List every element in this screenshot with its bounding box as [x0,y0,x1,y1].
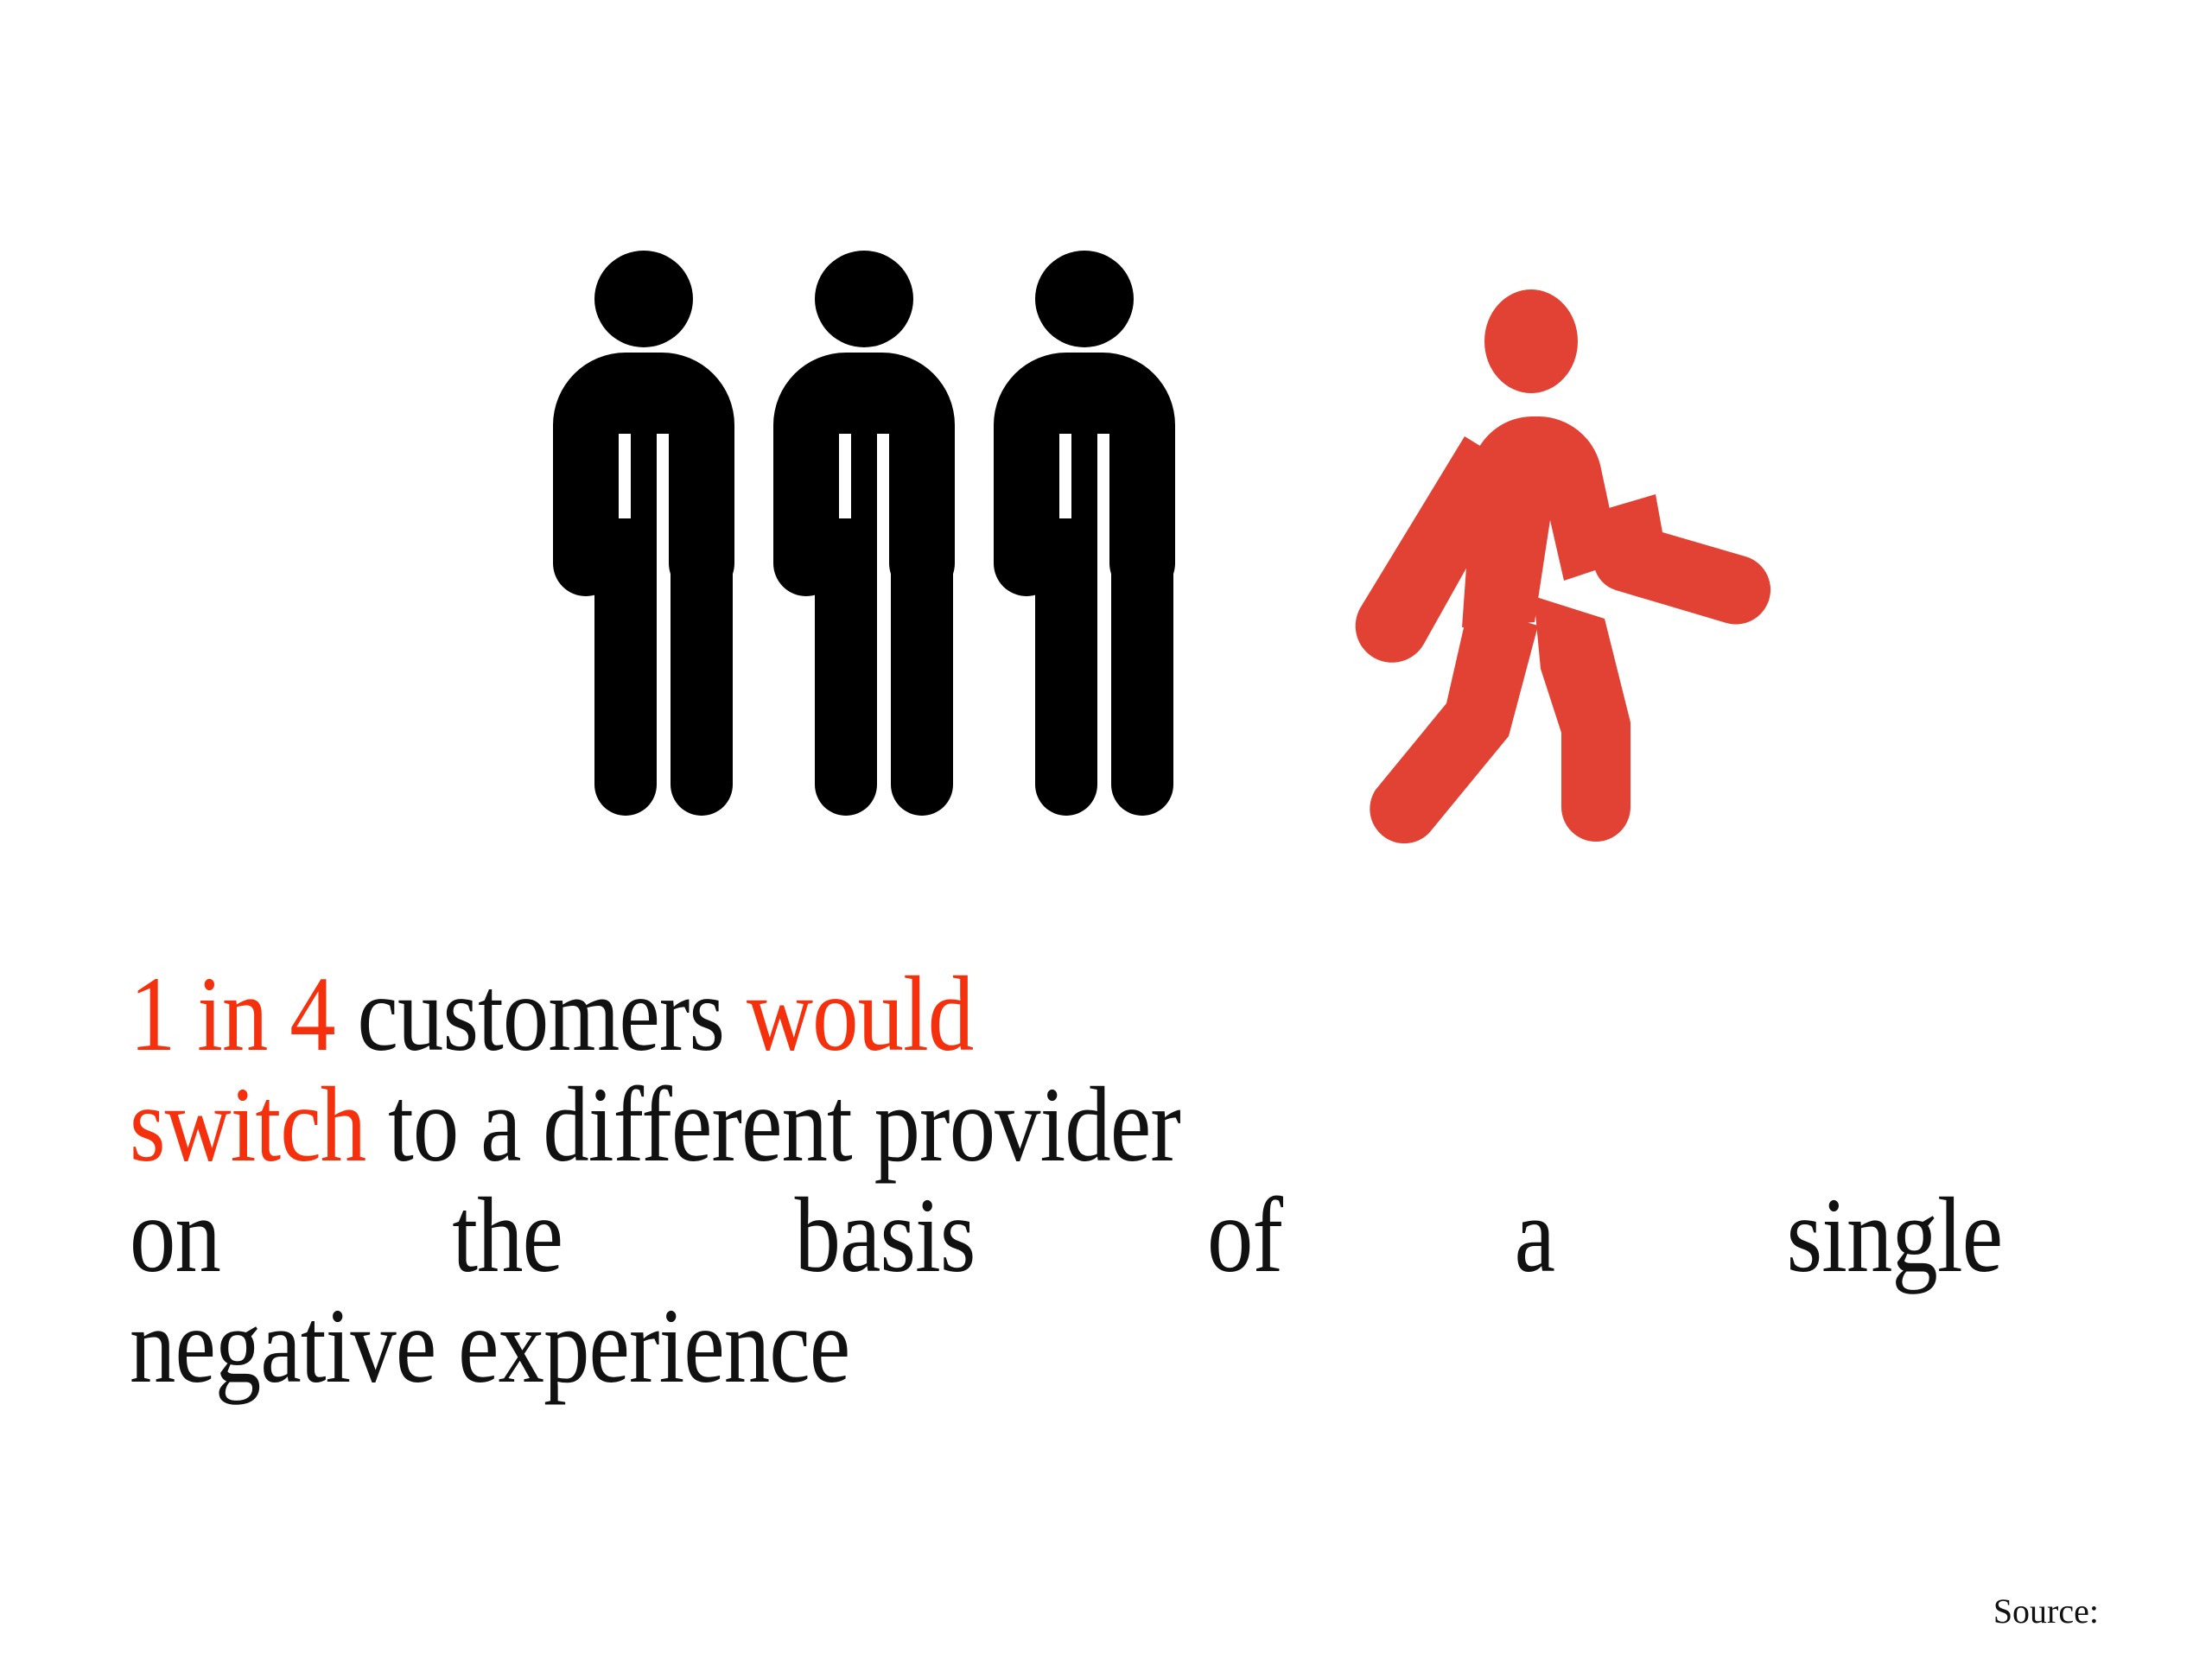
headline-phrase-negative-experience: negative experience [130,1287,849,1405]
source-label: Source: [1993,1591,2099,1632]
headline-word-would: would [747,955,973,1073]
headline-line-4: negative experience [130,1291,1753,1402]
standing-person-2-icon [773,251,955,816]
headline-word-switch: switch [130,1065,365,1184]
headline-word-basis: basis [795,1180,976,1291]
pictogram-illustration [0,0,2212,881]
headline-stat-ratio: 1 in 4 [130,955,335,1073]
headline-line-2: switch to a different provider [130,1070,1753,1180]
headline-word-customers: customers [335,955,747,1073]
walking-person-red-icon [1356,289,1770,843]
headline-line-1: 1 in 4 customers would [130,959,1753,1070]
headline-word-on: on [130,1180,220,1291]
headline-word-the: the [452,1180,563,1291]
headline-phrase-provider: to a different provider [365,1065,1180,1184]
headline-text-block: 1 in 4 customers would switch to a diffe… [130,959,2018,1402]
headline-word-a: a [1515,1180,1554,1291]
standing-person-3-icon [994,251,1175,816]
headline-line-3: on the basis of a single [130,1180,2002,1291]
headline-word-of: of [1207,1180,1282,1291]
headline-word-single: single [1787,1180,2003,1291]
standing-person-1-icon [553,251,734,816]
